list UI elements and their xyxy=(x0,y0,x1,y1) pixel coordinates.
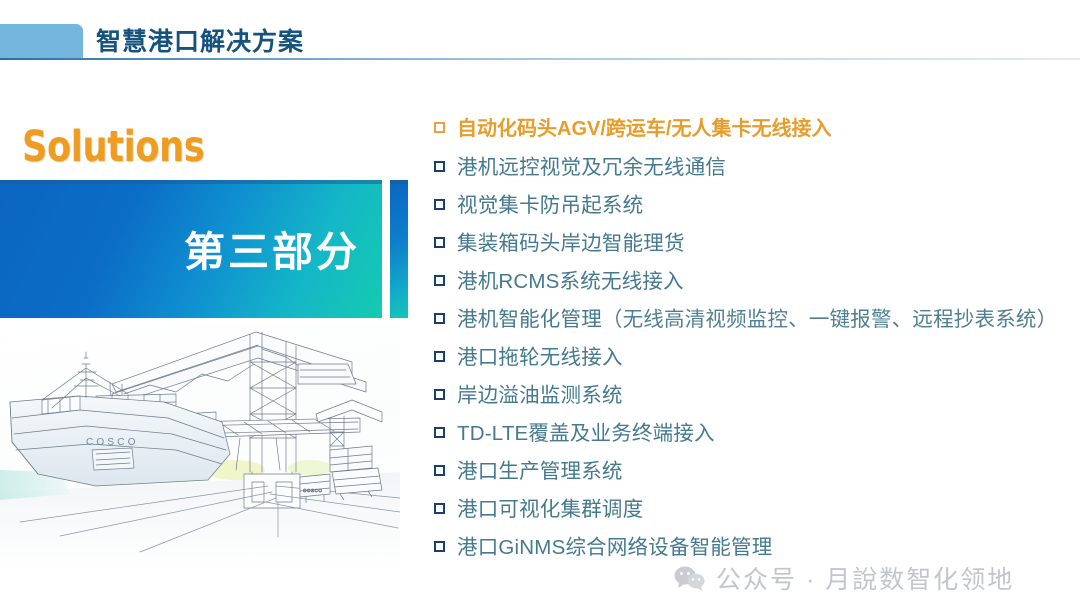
list-item-label: 港口拖轮无线接入 xyxy=(457,340,623,370)
list-item-label-note: （无线高清视频监控、一键报警、远程抄表系统） xyxy=(602,307,1057,331)
solutions-bullet-list: 自动化码头AGV/跨运车/无人集卡无线接入 港机远控视觉及冗余无线通信 视觉集卡… xyxy=(434,112,1074,568)
list-item-label: 港机智能化管理（无线高清视频监控、一键报警、远程抄表系统） xyxy=(457,302,1057,332)
list-item[interactable]: 港口拖轮无线接入 xyxy=(434,340,1074,378)
square-bullet-icon xyxy=(434,122,445,133)
list-item[interactable]: 港口可视化集群调度 xyxy=(434,492,1074,530)
watermark-label: 公众号 · 月說数智化领地 xyxy=(716,560,1014,596)
square-bullet-icon xyxy=(434,313,445,324)
list-item[interactable]: 视觉集卡防吊起系统 xyxy=(434,188,1074,226)
list-item[interactable]: 自动化码头AGV/跨运车/无人集卡无线接入 xyxy=(434,112,1074,150)
part-banner-accent-bar xyxy=(390,180,408,318)
square-bullet-icon xyxy=(434,503,445,514)
list-item-label: 港机RCMS系统无线接入 xyxy=(457,264,684,294)
section-part-banner: 第三部分 xyxy=(0,180,382,318)
list-item-label: 岸边溢油监测系统 xyxy=(457,378,623,408)
port-container-ship-sketch-illustration: COSCO COSCO xyxy=(0,322,400,572)
list-item-label: 集装箱码头岸边智能理货 xyxy=(457,226,685,256)
square-bullet-icon xyxy=(434,161,445,172)
list-item-label: 视觉集卡防吊起系统 xyxy=(457,188,643,218)
list-item[interactable]: TD-LTE覆盖及业务终端接入 xyxy=(434,416,1074,454)
part-banner-accent-top-edge xyxy=(390,180,408,184)
part-banner-top-edge xyxy=(0,180,382,184)
square-bullet-icon xyxy=(434,541,445,552)
list-item[interactable]: 港机远控视觉及冗余无线通信 xyxy=(434,150,1074,188)
watermark: 公众号 · 月說数智化领地 xyxy=(674,560,1014,596)
svg-text:COSCO: COSCO xyxy=(86,437,139,448)
square-bullet-icon xyxy=(434,351,445,362)
square-bullet-icon xyxy=(434,427,445,438)
list-item-label: 港口GiNMS综合网络设备智能管理 xyxy=(457,530,772,560)
list-item-label: 自动化码头AGV/跨运车/无人集卡无线接入 xyxy=(457,112,831,141)
page-header: 智慧港口解决方案 xyxy=(0,0,1080,64)
list-item-label: 港口生产管理系统 xyxy=(457,454,623,484)
square-bullet-icon xyxy=(434,465,445,476)
svg-text:COSCO: COSCO xyxy=(303,488,323,493)
square-bullet-icon xyxy=(434,199,445,210)
list-item[interactable]: 集装箱码头岸边智能理货 xyxy=(434,226,1074,264)
list-item-label: TD-LTE覆盖及业务终端接入 xyxy=(457,416,715,446)
list-item-label: 港口可视化集群调度 xyxy=(457,492,643,522)
page-title: 智慧港口解决方案 xyxy=(96,22,304,58)
square-bullet-icon xyxy=(434,275,445,286)
solutions-heading: Solutions xyxy=(22,122,204,172)
list-item-label-main: 港机智能化管理 xyxy=(457,308,602,331)
list-item[interactable]: 港机RCMS系统无线接入 xyxy=(434,264,1074,302)
header-tab-accent xyxy=(0,24,83,58)
list-item[interactable]: 港机智能化管理（无线高清视频监控、一键报警、远程抄表系统） xyxy=(434,302,1074,340)
list-item[interactable]: 港口生产管理系统 xyxy=(434,454,1074,492)
list-item[interactable]: 岸边溢油监测系统 xyxy=(434,378,1074,416)
header-divider xyxy=(0,58,1080,60)
square-bullet-icon xyxy=(434,389,445,400)
part-banner-label: 第三部分 xyxy=(184,218,360,278)
square-bullet-icon xyxy=(434,237,445,248)
wechat-icon xyxy=(674,565,706,591)
list-item-label: 港机远控视觉及冗余无线通信 xyxy=(457,150,726,180)
